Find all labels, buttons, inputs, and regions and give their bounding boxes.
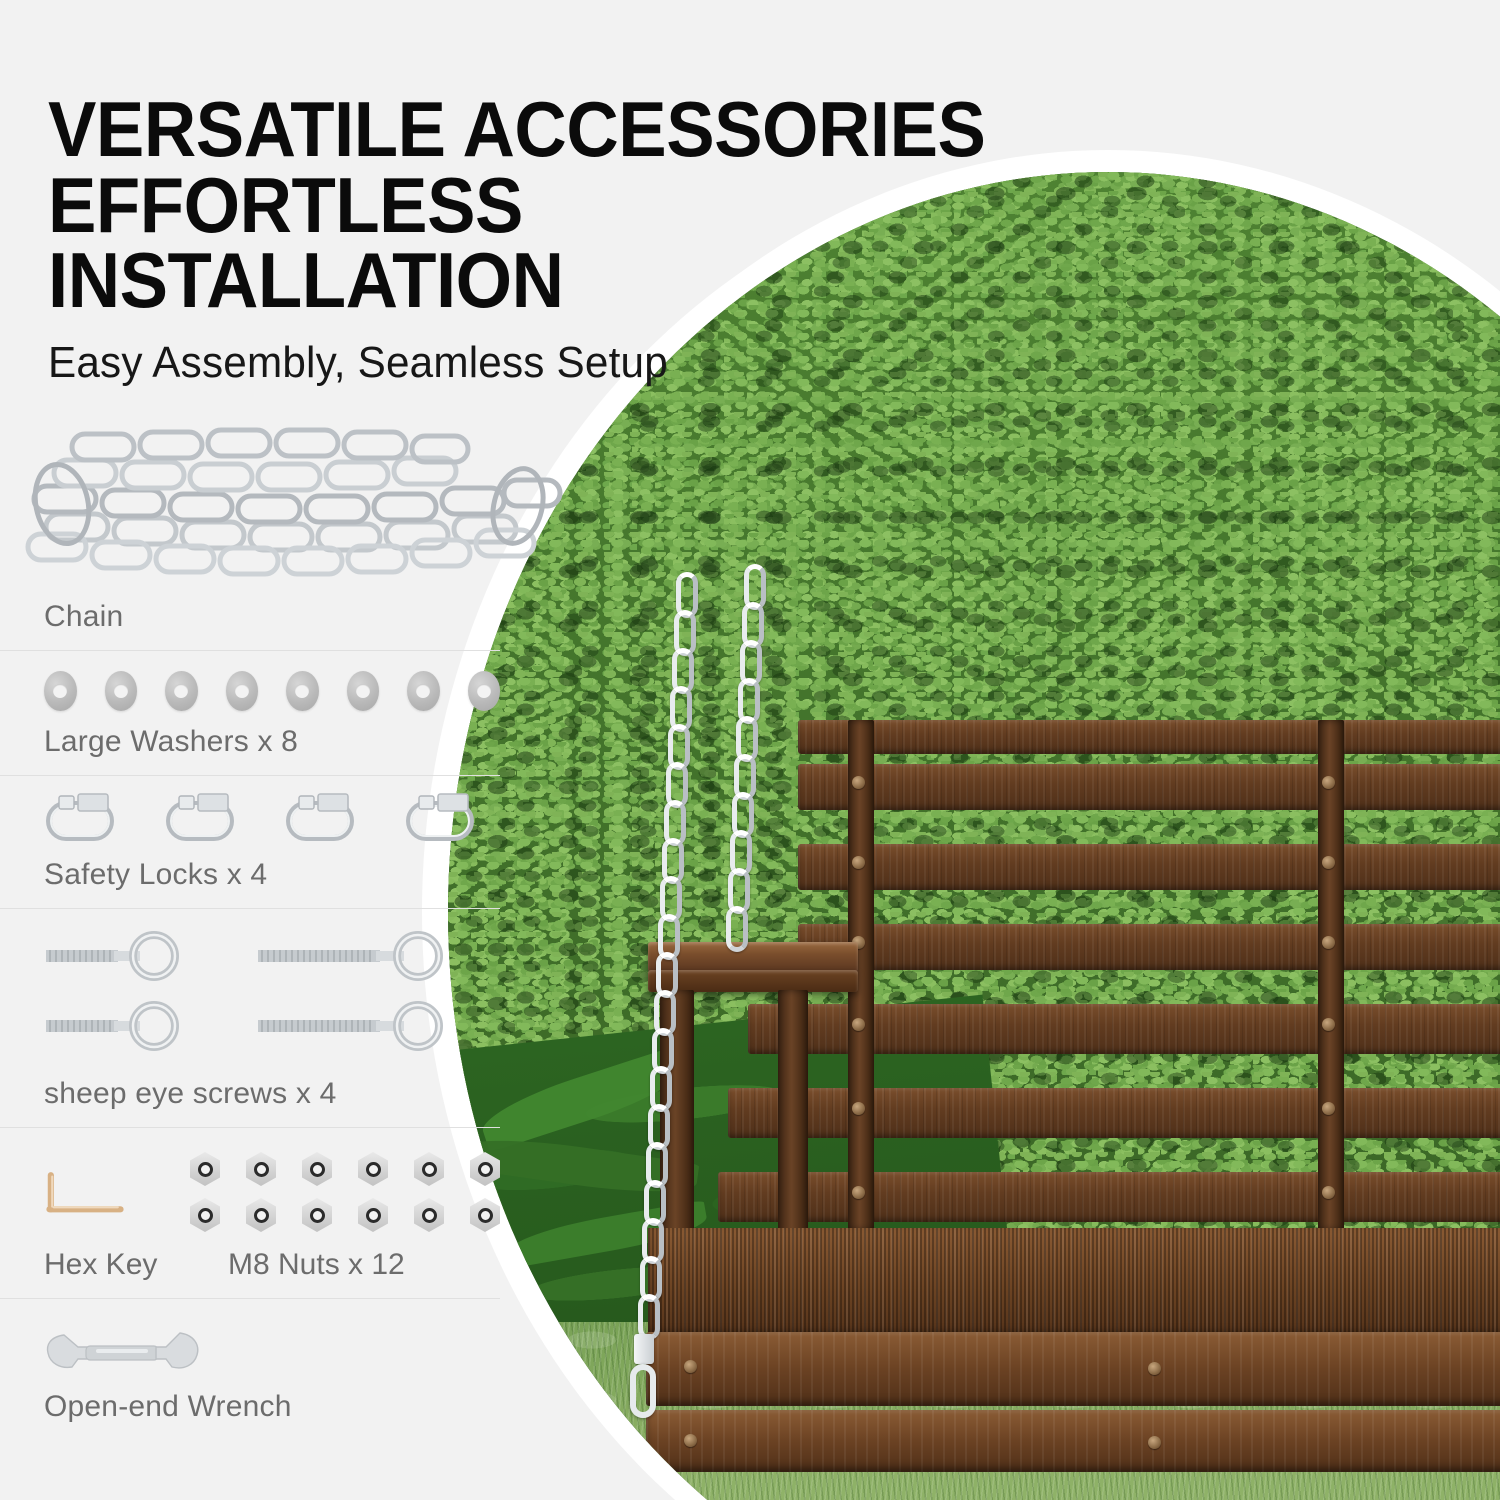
safety-lock-icon: [630, 1364, 656, 1418]
screw-head: [852, 856, 865, 869]
eye-screw-icon: [256, 997, 446, 1055]
hex-nut-icon: [302, 1198, 332, 1232]
hex-key-icon: [44, 1158, 126, 1232]
page-title: VERSATILE ACCESSORIES EFFORTLESS INSTALL…: [48, 92, 1006, 319]
armrest-front-edge: [648, 970, 858, 992]
screw-head: [1148, 1436, 1161, 1449]
chain-coil-icon: [0, 418, 500, 590]
safety-lock-icon: [44, 792, 120, 846]
page-subtitle: Easy Assembly, Seamless Setup: [48, 338, 668, 388]
backrest-slat: [798, 844, 1500, 890]
headline-line-2: EFFORTLESS INSTALLATION: [48, 168, 1006, 319]
accessory-item-hexkey-nuts: Hex Key M8 Nuts x 12: [0, 1127, 500, 1298]
accessories-list: Chain Large Washers x 8: [0, 412, 500, 1440]
screw-head: [852, 1186, 865, 1199]
product-feature-banner: VERSATILE ACCESSORIES EFFORTLESS INSTALL…: [0, 0, 1500, 1500]
safety-lock-icon-group: [0, 776, 500, 858]
washer-icon: [105, 671, 138, 711]
screw-head: [1322, 856, 1335, 869]
hex-nut-icon: [470, 1198, 500, 1232]
accessory-item-eye-screws: sheep eye screws x 4: [0, 908, 500, 1127]
screw-head: [852, 776, 865, 789]
accessory-label: Safety Locks x 4: [0, 858, 500, 908]
screw-head: [852, 1018, 865, 1031]
hex-nut-icon: [358, 1198, 388, 1232]
accessory-label: Hex Key: [44, 1248, 164, 1282]
eye-screw-icon: [256, 927, 446, 985]
chain-coil-svg: [18, 418, 578, 586]
hex-nut-icon: [414, 1152, 444, 1186]
washer-icon-group: [0, 651, 500, 725]
screw-head: [684, 1360, 697, 1373]
backrest-post: [1318, 720, 1344, 1230]
backrest-slat: [798, 924, 1500, 970]
hex-nut-icon-group: [190, 1152, 500, 1232]
safety-lock-icon: [164, 792, 240, 846]
safety-lock-icon: [404, 792, 480, 846]
washer-icon: [407, 671, 440, 711]
accessory-item-wrench: Open-end Wrench: [0, 1298, 500, 1440]
screw-head: [1322, 936, 1335, 949]
eye-screw-icon-group: [0, 909, 500, 1077]
backrest-top-rail: [798, 720, 1500, 754]
seat-deck: [648, 1228, 1500, 1336]
screw-head: [1322, 1186, 1335, 1199]
washer-icon: [44, 671, 77, 711]
hex-nut-icon: [190, 1152, 220, 1186]
washer-icon: [347, 671, 380, 711]
open-end-wrench-icon: [44, 1325, 204, 1379]
accessory-item-washers: Large Washers x 8: [0, 650, 500, 775]
screw-head: [1148, 1362, 1161, 1375]
hex-nut-icon: [358, 1152, 388, 1186]
accessory-label: Chain: [0, 600, 500, 650]
backrest-slat: [798, 764, 1500, 810]
washer-icon: [286, 671, 319, 711]
armrest-support-post: [778, 990, 808, 1240]
hex-nut-icon: [190, 1198, 220, 1232]
eye-screw-icon: [44, 927, 184, 985]
screw-head: [1322, 1018, 1335, 1031]
washer-icon: [468, 671, 501, 711]
headline-line-1: VERSATILE ACCESSORIES: [48, 85, 985, 173]
safety-lock-icon: [284, 792, 360, 846]
accessory-item-chain: Chain: [0, 418, 500, 650]
hex-nut-icon: [470, 1152, 500, 1186]
screw-head: [684, 1434, 697, 1447]
accessory-label: sheep eye screws x 4: [0, 1077, 500, 1127]
seat-bottom-rail: [646, 1410, 1500, 1472]
seat-front-apron: [646, 1332, 1500, 1406]
hex-nut-icon: [302, 1152, 332, 1186]
hex-nut-icon: [414, 1198, 444, 1232]
backrest-slat: [728, 1088, 1500, 1138]
eye-screw-icon: [44, 997, 184, 1055]
hex-nut-icon: [246, 1198, 276, 1232]
safety-lock-collar: [634, 1334, 654, 1364]
accessory-label: Large Washers x 8: [0, 725, 500, 775]
hex-nut-icon: [246, 1152, 276, 1186]
washer-icon: [165, 671, 198, 711]
screw-head: [1322, 1102, 1335, 1115]
screw-head: [1322, 776, 1335, 789]
screw-head: [852, 1102, 865, 1115]
accessory-item-safety-locks: Safety Locks x 4: [0, 775, 500, 908]
backrest-slat: [718, 1172, 1500, 1222]
washer-icon: [226, 671, 259, 711]
accessory-label: M8 Nuts x 12: [228, 1248, 405, 1282]
accessory-label: Open-end Wrench: [0, 1390, 500, 1440]
